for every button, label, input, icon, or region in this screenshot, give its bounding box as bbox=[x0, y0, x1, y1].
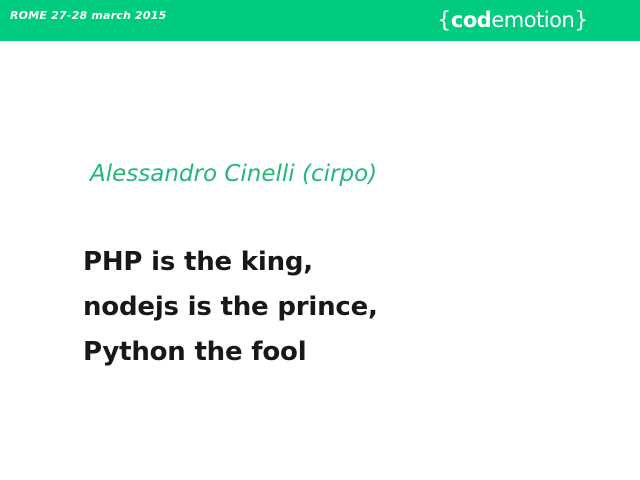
codemotion-logo: {codemotion} bbox=[437, 8, 588, 33]
logo-open-brace: { bbox=[437, 8, 451, 33]
title-line-2: nodejs is the prince, bbox=[83, 285, 603, 330]
speaker-name: Alessandro Cinelli (cirpo) bbox=[90, 161, 377, 187]
title-line-1: PHP is the king, bbox=[83, 240, 603, 285]
logo-emotion-text: emotion bbox=[491, 8, 574, 32]
title-line-3: Python the fool bbox=[83, 330, 603, 375]
event-date-location: ROME 27-28 march 2015 bbox=[10, 9, 166, 22]
slide-header-band: ROME 27-28 march 2015 {codemotion} bbox=[0, 0, 640, 41]
logo-cod-text: cod bbox=[451, 8, 491, 32]
talk-title: PHP is the king, nodejs is the prince, P… bbox=[83, 240, 603, 375]
presentation-slide: ROME 27-28 march 2015 {codemotion} Aless… bbox=[0, 0, 640, 480]
logo-close-brace: } bbox=[574, 8, 588, 33]
